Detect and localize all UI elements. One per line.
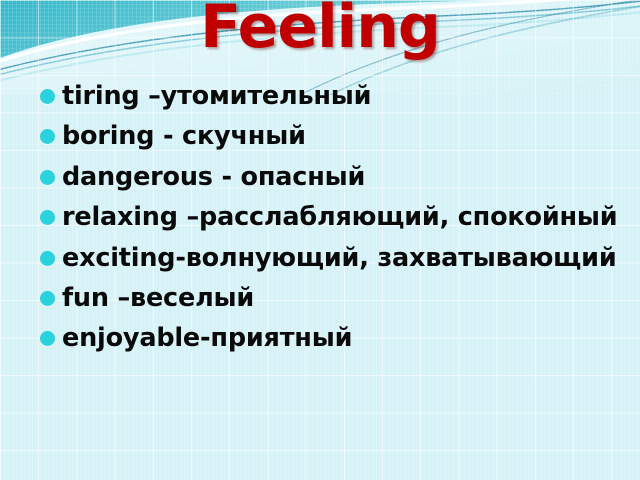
vocabulary-list: tiring –утомительный boring - скучный da… <box>0 80 640 363</box>
list-item-label: fun –веселый <box>62 282 630 314</box>
list-item: relaxing –расслабляющий, спокойный <box>0 201 640 233</box>
page-title: Feeling <box>0 0 640 61</box>
list-item: dangerous - опасный <box>0 161 640 193</box>
list-item: fun –веселый <box>0 282 640 314</box>
list-item-label: dangerous - опасный <box>62 161 630 193</box>
list-item-label: enjoyable-приятный <box>62 322 630 354</box>
bullet-dot-icon <box>40 331 55 346</box>
list-item: enjoyable-приятный <box>0 322 640 354</box>
bullet-dot-icon <box>40 129 55 144</box>
bullet-dot-icon <box>40 170 55 185</box>
list-item: exciting-волнующий, захватывающий <box>0 242 640 274</box>
list-item: boring - скучный <box>0 120 640 152</box>
slide-canvas: Feeling tiring –утомительный boring - ск… <box>0 0 640 480</box>
list-item: tiring –утомительный <box>0 80 640 112</box>
bullet-dot-icon <box>40 291 55 306</box>
list-item-label: exciting-волнующий, захватывающий <box>62 242 630 274</box>
bullet-dot-icon <box>40 251 55 266</box>
bullet-dot-icon <box>40 210 55 225</box>
bullet-dot-icon <box>40 89 55 104</box>
list-item-label: relaxing –расслабляющий, спокойный <box>62 201 630 233</box>
list-item-label: tiring –утомительный <box>62 80 630 112</box>
list-item-label: boring - скучный <box>62 120 630 152</box>
